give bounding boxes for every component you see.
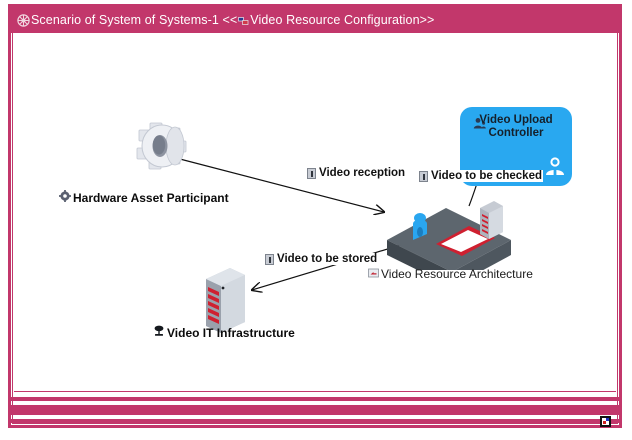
scenario-wheel-icon [17,14,30,27]
server-node-icon [153,325,165,340]
node-hardware-asset-participant[interactable] [129,118,199,176]
frame-band-top [11,397,619,401]
gear-icon [59,190,71,205]
stereotype-open: << [222,13,237,27]
flow-item-icon [265,254,274,265]
node-video-resource-architecture-label: Video Resource Architecture [381,267,533,281]
frame-band-bottom [11,419,619,423]
node-hardware-asset-participant-caption: Hardware Asset Participant [59,190,229,205]
stereotype-close: >> [420,13,435,27]
edge-label-video-to-be-checked-text: Video to be checked [431,170,542,182]
configuration-icon [238,16,249,26]
edge-label-video-reception-text: Video reception [319,167,405,179]
diagram-canvas[interactable]: Video Upload Controller [14,36,616,392]
canvas-bottom-divider [14,391,616,392]
stereotype-name: Video Resource Configuration [250,13,419,27]
edge-label-video-to-be-checked[interactable]: Video to be checked [418,170,543,182]
node-video-it-infrastructure-caption: Video IT Infrastructure [153,325,295,340]
user-role-icon [544,156,566,181]
node-video-it-infrastructure-label: Video IT Infrastructure [167,326,295,340]
resize-anchor-blue-dot [606,418,609,421]
node-hardware-asset-participant-label: Hardware Asset Participant [73,191,229,205]
edge-label-video-reception[interactable]: Video reception [306,167,406,179]
edge-label-video-to-be-stored[interactable]: Video to be stored [264,253,378,265]
node-video-resource-architecture-caption: Video Resource Architecture [368,267,533,281]
diagram-window: Scenario of System of Systems-1 <<Video … [0,0,632,440]
node-video-upload-controller-label: Video Upload Controller [460,114,572,140]
edge-layer [14,36,616,392]
gear-3d-icon [129,118,199,176]
page-title: Scenario of System of Systems-1 <<Video … [31,13,434,27]
flow-item-icon [307,168,316,179]
resize-anchor-icon[interactable] [600,416,611,427]
title-scenario-name: Scenario of System of Systems-1 [31,13,219,27]
resize-anchor-red-dot [603,421,606,424]
architecture-block-icon [368,267,379,281]
window-titlebar[interactable]: Scenario of System of Systems-1 <<Video … [11,7,619,33]
architecture-platform-3d-icon [384,188,514,270]
flow-item-icon [419,171,428,182]
edge-label-video-to-be-stored-text: Video to be stored [277,253,377,265]
node-video-resource-architecture[interactable] [384,188,514,270]
frame-band-middle [11,405,619,415]
